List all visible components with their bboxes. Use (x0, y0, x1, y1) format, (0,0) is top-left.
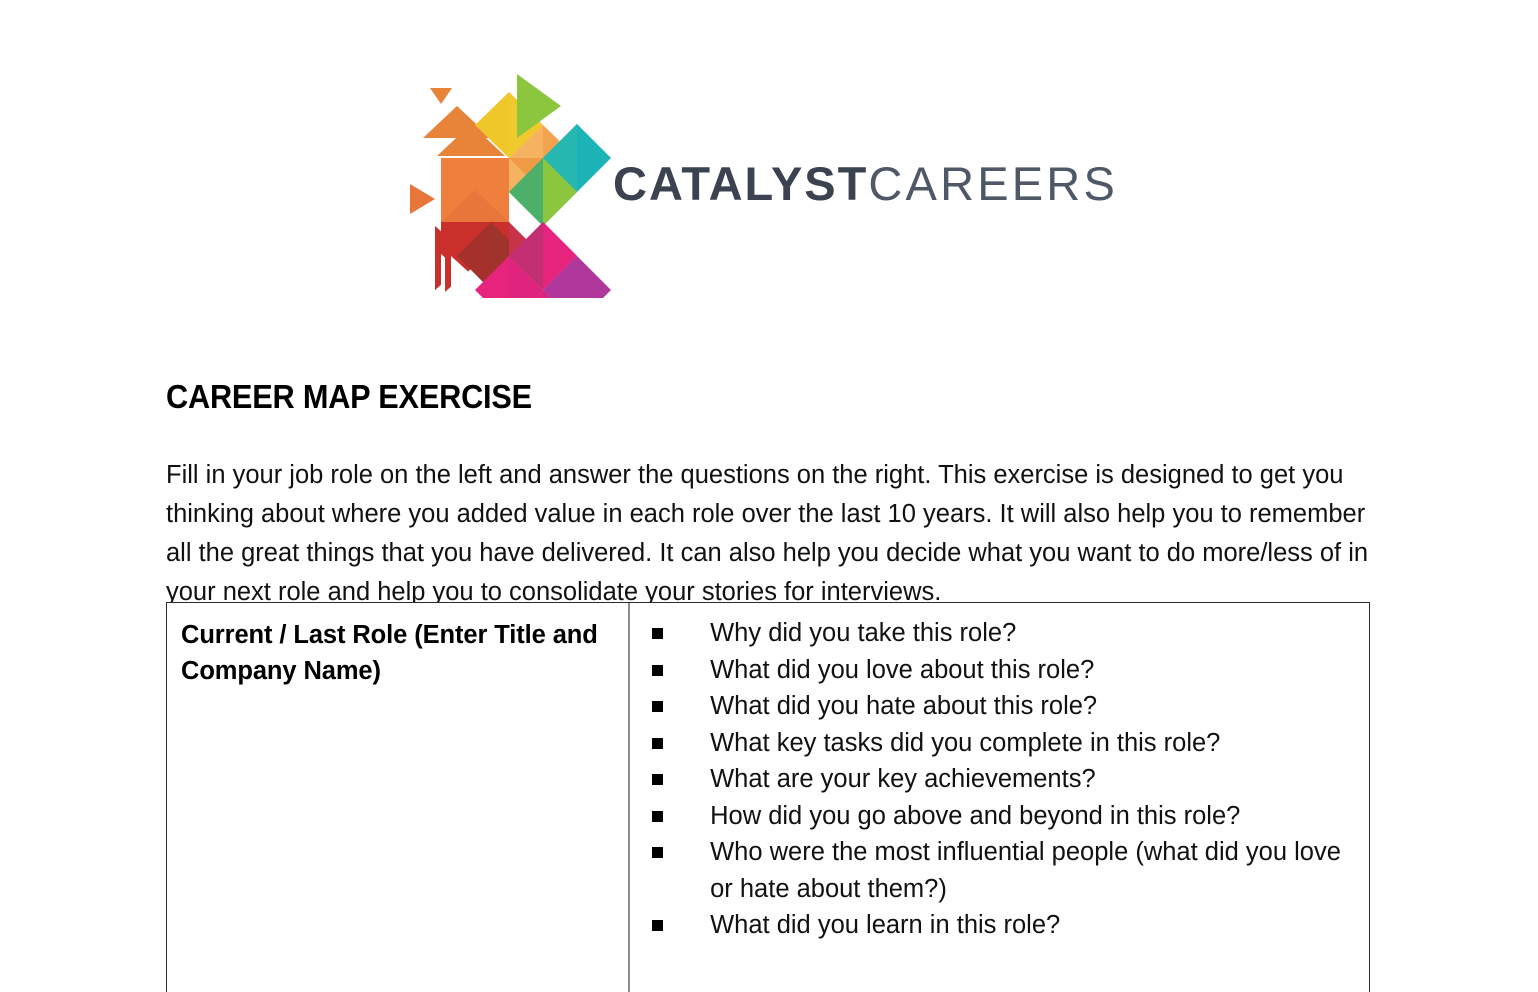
role-entry-cell[interactable]: Current / Last Role (Enter Title and Com… (167, 603, 630, 992)
square-bullet-icon (652, 847, 663, 858)
list-item: What did you love about this role? (648, 652, 1359, 689)
intro-paragraph: Fill in your job role on the left and an… (166, 456, 1376, 612)
question-text: What key tasks did you complete in this … (710, 729, 1220, 757)
wordmark-catalyst: CATALYST (613, 157, 868, 210)
question-text: What did you love about this role? (710, 656, 1094, 684)
square-bullet-icon (652, 920, 663, 931)
square-bullet-icon (652, 628, 663, 639)
wordmark-careers: CAREERS (868, 157, 1118, 210)
square-bullet-icon (652, 738, 663, 749)
square-bullet-icon (652, 701, 663, 712)
questions-cell: Why did you take this role? What did you… (630, 603, 1369, 992)
list-item: What key tasks did you complete in this … (648, 725, 1359, 762)
square-bullet-icon (652, 811, 663, 822)
question-text: What did you hate about this role? (710, 692, 1097, 720)
role-entry-label: Current / Last Role (Enter Title and Com… (181, 617, 612, 689)
questions-list: Why did you take this role? What did you… (648, 615, 1359, 944)
question-text: Why did you take this role? (710, 619, 1016, 647)
brand-logo: CATALYSTCAREERS (405, 66, 1125, 306)
square-bullet-icon (652, 665, 663, 676)
question-text: What are your key achievements? (710, 765, 1096, 793)
question-text: What did you learn in this role? (710, 911, 1060, 939)
list-item: Why did you take this role? (648, 615, 1359, 652)
list-item: What did you hate about this role? (648, 688, 1359, 725)
brand-wordmark: CATALYSTCAREERS (613, 160, 1118, 207)
page-title: CAREER MAP EXERCISE (166, 378, 532, 416)
document-page: CATALYSTCAREERS CAREER MAP EXERCISE Fill… (0, 0, 1538, 992)
question-text: How did you go above and beyond in this … (710, 802, 1240, 830)
catalyst-mosaic-c-icon (405, 66, 637, 298)
career-map-table: Current / Last Role (Enter Title and Com… (166, 602, 1370, 992)
list-item: What did you learn in this role? (648, 907, 1359, 944)
question-text: Who were the most influential people (wh… (710, 838, 1341, 903)
list-item: Who were the most influential people (wh… (648, 834, 1359, 907)
list-item: What are your key achievements? (648, 761, 1359, 798)
square-bullet-icon (652, 774, 663, 785)
list-item: How did you go above and beyond in this … (648, 798, 1359, 835)
